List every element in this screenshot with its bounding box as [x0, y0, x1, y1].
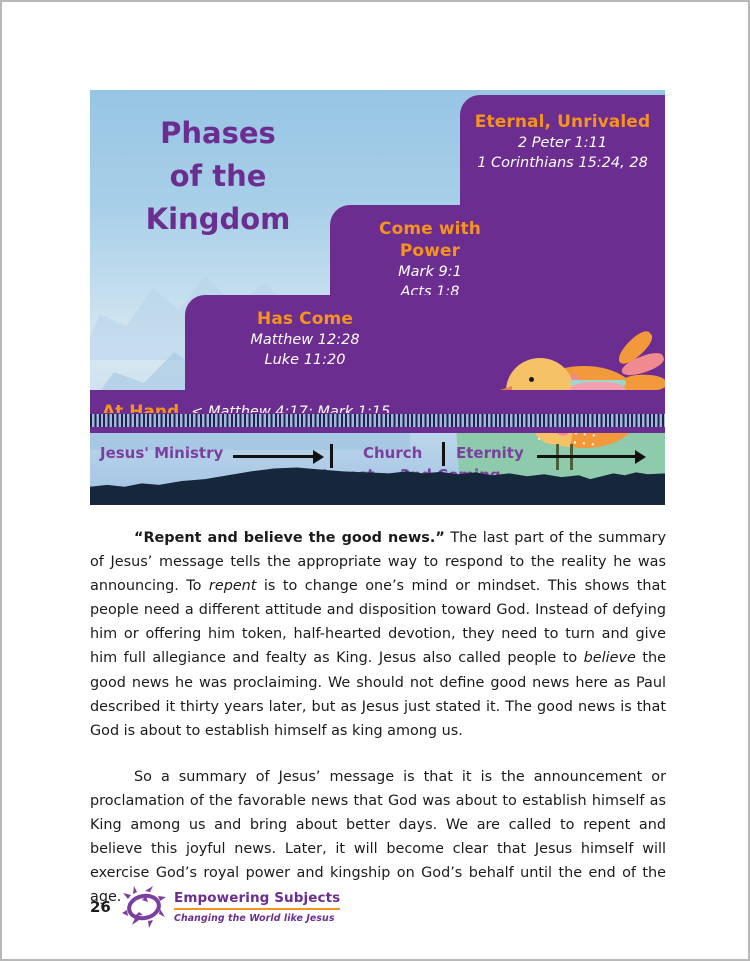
timeline-arrow-head-1	[313, 450, 324, 464]
timeline-ruler	[90, 413, 665, 427]
page-footer: 26 Emp	[90, 884, 490, 930]
phase-heading-eternal: Eternal, Unrivaled	[460, 111, 665, 133]
phase-block-eternal-unrivaled: Eternal, Unrivaled 2 Peter 1:11 1 Corint…	[460, 95, 665, 210]
page-number: 26	[90, 898, 122, 916]
body-text: “Repent and believe the good news.” The …	[90, 526, 666, 909]
paragraph-1-italic-repent: repent	[209, 578, 257, 594]
figure-title-line-2: of the	[118, 155, 318, 198]
phase-block-come-with-power: Come with Power Mark 9:1 Acts 1:8	[330, 205, 665, 300]
figure-title-line-3: Kingdom	[118, 198, 318, 241]
timeline-arrow-line-2	[537, 455, 637, 458]
timeline-marker-2nd-coming	[442, 442, 445, 466]
timeline-marker-pentecost	[330, 444, 333, 468]
phase-ref-eternal-1: 2 Peter 1:11	[460, 133, 665, 153]
phase-heading-power-line-2: Power	[330, 240, 530, 262]
phase-ref-has-come-1: Matthew 12:28	[220, 330, 390, 350]
phase-ref-eternal-2: 1 Corinthians 15:24, 28	[460, 153, 665, 173]
brand-lockup: Empowering Subjects Changing the World l…	[174, 890, 340, 924]
figure-title-line-1: Phases	[118, 112, 318, 155]
timeline-label-jesus-ministry: Jesus' Ministry	[100, 444, 223, 462]
phases-of-the-kingdom-infographic: Phases of the Kingdom Eternal, Unrivaled…	[90, 90, 665, 505]
timeline-label-eternity: Eternity	[456, 444, 524, 462]
paragraph-1: “Repent and believe the good news.” The …	[90, 526, 666, 743]
timeline-label-church: Church	[363, 444, 422, 462]
document-page: Phases of the Kingdom Eternal, Unrivaled…	[0, 0, 750, 961]
paragraph-1-lead: “Repent and believe the good news.”	[134, 530, 445, 546]
timeline-arrow-head-2	[635, 450, 646, 464]
timeline-arrow-line-1	[233, 455, 315, 458]
bird-eye	[529, 377, 534, 382]
brand-name: Empowering Subjects	[174, 890, 340, 910]
brand-tagline: Changing the World like Jesus	[174, 913, 340, 924]
figure-title: Phases of the Kingdom	[118, 112, 318, 241]
phase-heading-power-line-1: Come with	[330, 218, 530, 240]
crown-of-thorns-logo-icon	[122, 886, 166, 928]
phase-ref-has-come-2: Luke 11:20	[220, 350, 390, 370]
paragraph-1-italic-believe: believe	[584, 650, 636, 666]
phase-heading-has-come: Has Come	[220, 308, 390, 330]
phase-ref-power-1: Mark 9:1	[330, 262, 530, 282]
